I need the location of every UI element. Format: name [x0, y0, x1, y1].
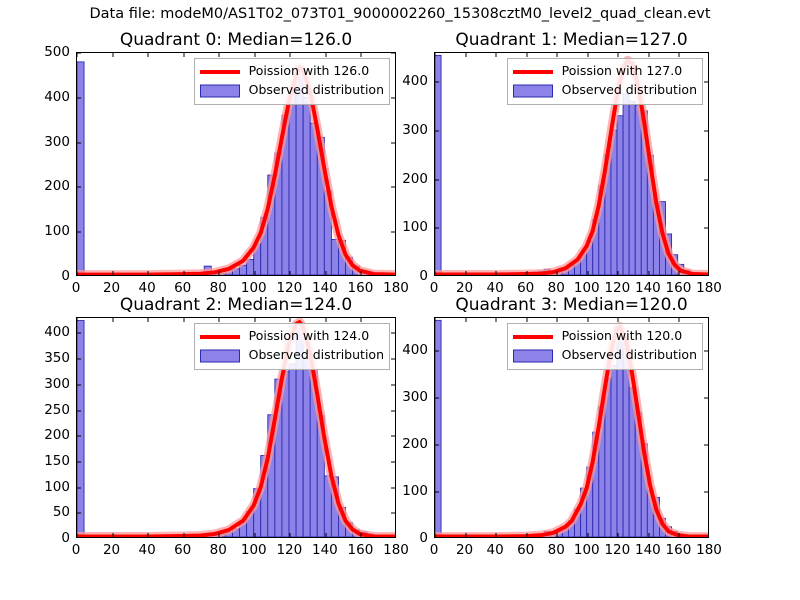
- subplot-quadrant-3: Quadrant 3: Median=120.00100200300400020…: [434, 317, 709, 538]
- histogram-bar: [77, 62, 84, 275]
- y-tick-mark: [77, 142, 81, 143]
- x-tick-label: 180: [696, 542, 722, 558]
- x-tick-mark: [679, 533, 680, 537]
- x-tick-mark: [361, 533, 362, 537]
- y-tick-mark: [77, 384, 81, 385]
- x-tick-label: 120: [276, 280, 302, 296]
- legend-label-poisson: Poission with 126.0: [249, 65, 370, 78]
- x-tick-label: 60: [517, 542, 534, 558]
- x-tick-mark: [290, 318, 291, 322]
- x-tick-mark: [435, 533, 436, 537]
- patch-swatch-icon: [513, 349, 553, 362]
- x-tick-mark: [219, 53, 220, 57]
- y-tick-label: 200: [44, 427, 70, 443]
- x-tick-mark: [254, 533, 255, 537]
- x-tick-mark: [465, 271, 466, 275]
- y-tick-mark: [435, 82, 439, 83]
- x-tick-mark: [435, 271, 436, 275]
- x-tick-mark: [148, 533, 149, 537]
- subplot-quadrant-1: Quadrant 1: Median=127.00100200300400020…: [434, 52, 709, 276]
- histogram-bar: [435, 320, 441, 537]
- y-tick-mark: [704, 130, 708, 131]
- x-tick-label: 0: [72, 542, 81, 558]
- y-tick-mark: [391, 384, 395, 385]
- y-tick-mark: [435, 350, 439, 351]
- x-tick-mark: [618, 533, 619, 537]
- x-tick-mark: [361, 271, 362, 275]
- x-tick-mark: [679, 271, 680, 275]
- y-tick-label: 50: [53, 504, 70, 520]
- legend-entry: Observed distribution: [513, 81, 697, 100]
- y-tick-label: 400: [44, 89, 70, 105]
- line-swatch-icon: [200, 335, 240, 339]
- x-tick-label: 160: [348, 280, 374, 296]
- y-tick-mark: [77, 410, 81, 411]
- y-tick-mark: [704, 228, 708, 229]
- x-tick-mark: [648, 318, 649, 322]
- y-tick-mark: [77, 97, 81, 98]
- y-tick-mark: [77, 232, 81, 233]
- x-tick-label: 80: [548, 542, 565, 558]
- x-tick-mark: [219, 271, 220, 275]
- y-tick-mark: [704, 350, 708, 351]
- x-tick-label: 100: [241, 280, 267, 296]
- y-tick-label: 200: [402, 171, 428, 187]
- x-tick-mark: [465, 533, 466, 537]
- x-tick-label: 120: [604, 280, 630, 296]
- x-tick-mark: [496, 318, 497, 322]
- y-tick-mark: [435, 179, 439, 180]
- x-tick-label: 100: [574, 280, 600, 296]
- x-tick-mark: [254, 53, 255, 57]
- x-tick-mark: [435, 53, 436, 57]
- x-tick-mark: [648, 53, 649, 57]
- histogram-bar: [303, 358, 310, 537]
- x-tick-mark: [618, 271, 619, 275]
- y-tick-label: 500: [44, 44, 70, 60]
- y-tick-mark: [435, 228, 439, 229]
- x-tick-label: 100: [574, 542, 600, 558]
- y-tick-label: 0: [419, 530, 428, 546]
- histogram-bar: [77, 321, 84, 537]
- line-swatch-icon: [513, 335, 553, 339]
- x-tick-label: 0: [430, 280, 439, 296]
- x-tick-mark: [183, 533, 184, 537]
- patch-swatch-icon: [200, 84, 240, 97]
- histogram-bar: [289, 364, 296, 537]
- x-tick-mark: [618, 53, 619, 57]
- y-tick-label: 0: [61, 530, 70, 546]
- legend-label-observed: Observed distribution: [249, 84, 384, 97]
- x-tick-mark: [254, 318, 255, 322]
- legend[interactable]: Poission with 127.0Observed distribution: [507, 58, 703, 105]
- legend-key-observed-patch: [513, 349, 553, 363]
- legend-label-observed: Observed distribution: [249, 349, 384, 362]
- legend-entry: Observed distribution: [200, 81, 384, 100]
- x-tick-label: 0: [72, 280, 81, 296]
- x-tick-mark: [112, 318, 113, 322]
- x-tick-mark: [290, 53, 291, 57]
- x-tick-mark: [77, 318, 78, 322]
- x-tick-label: 60: [517, 280, 534, 296]
- x-tick-label: 80: [210, 542, 227, 558]
- y-tick-mark: [77, 487, 81, 488]
- x-tick-mark: [112, 271, 113, 275]
- x-tick-label: 20: [456, 542, 473, 558]
- legend-entry: Poission with 120.0: [513, 327, 697, 346]
- x-tick-mark: [557, 53, 558, 57]
- x-tick-label: 140: [312, 280, 338, 296]
- y-tick-mark: [77, 513, 81, 514]
- x-tick-label: 20: [103, 542, 120, 558]
- y-tick-label: 0: [61, 268, 70, 284]
- y-tick-mark: [704, 82, 708, 83]
- x-tick-mark: [77, 533, 78, 537]
- y-tick-label: 100: [44, 223, 70, 239]
- x-tick-mark: [219, 318, 220, 322]
- x-tick-label: 180: [383, 542, 409, 558]
- x-tick-mark: [465, 318, 466, 322]
- x-tick-mark: [648, 271, 649, 275]
- x-tick-label: 40: [487, 280, 504, 296]
- y-tick-label: 300: [402, 122, 428, 138]
- x-tick-mark: [526, 53, 527, 57]
- histogram-bar: [629, 101, 635, 275]
- y-tick-label: 200: [44, 178, 70, 194]
- y-tick-mark: [435, 444, 439, 445]
- y-tick-label: 300: [402, 389, 428, 405]
- subplot-quadrant-0: Quadrant 0: Median=126.00100200300400500…: [76, 52, 396, 276]
- x-tick-mark: [325, 533, 326, 537]
- legend[interactable]: Poission with 120.0Observed distribution: [507, 323, 703, 370]
- x-tick-mark: [325, 318, 326, 322]
- x-tick-mark: [496, 533, 497, 537]
- x-tick-label: 180: [383, 280, 409, 296]
- histogram-bar: [635, 105, 641, 275]
- subplot-title: Quadrant 3: Median=120.0: [434, 295, 709, 315]
- x-tick-mark: [557, 533, 558, 537]
- histogram-bar: [303, 97, 310, 275]
- y-tick-mark: [391, 187, 395, 188]
- y-tick-label: 250: [44, 402, 70, 418]
- x-tick-label: 20: [456, 280, 473, 296]
- y-tick-label: 400: [402, 342, 428, 358]
- histogram-bar: [611, 366, 617, 537]
- x-tick-mark: [183, 53, 184, 57]
- y-tick-mark: [77, 187, 81, 188]
- legend-label-observed: Observed distribution: [562, 349, 697, 362]
- x-tick-label: 40: [487, 542, 504, 558]
- legend-key-observed-patch: [200, 84, 240, 98]
- y-tick-label: 0: [419, 268, 428, 284]
- x-tick-mark: [496, 53, 497, 57]
- legend-key-observed-patch: [513, 84, 553, 98]
- x-tick-mark: [496, 271, 497, 275]
- x-tick-label: 40: [139, 542, 156, 558]
- y-tick-label: 400: [402, 73, 428, 89]
- line-swatch-icon: [200, 70, 240, 74]
- legend-key-poisson-line: [513, 65, 553, 79]
- x-tick-mark: [587, 533, 588, 537]
- x-tick-mark: [361, 318, 362, 322]
- y-tick-label: 350: [44, 350, 70, 366]
- subplot-title: Quadrant 0: Median=126.0: [76, 30, 396, 50]
- x-tick-label: 160: [666, 542, 692, 558]
- y-tick-mark: [391, 436, 395, 437]
- x-tick-mark: [587, 318, 588, 322]
- y-tick-mark: [435, 397, 439, 398]
- x-tick-mark: [290, 533, 291, 537]
- x-tick-mark: [183, 318, 184, 322]
- y-tick-mark: [435, 130, 439, 131]
- x-tick-mark: [290, 271, 291, 275]
- legend-key-poisson-line: [513, 330, 553, 344]
- y-tick-label: 300: [44, 376, 70, 392]
- figure-canvas: Data file: modeM0/AS1T02_073T01_90000022…: [0, 0, 800, 600]
- x-tick-label: 140: [635, 280, 661, 296]
- histogram-bar: [435, 55, 441, 275]
- legend-label-poisson: Poission with 124.0: [249, 330, 370, 343]
- histogram-bar: [623, 94, 629, 275]
- legend-entry: Poission with 127.0: [513, 62, 697, 81]
- x-tick-mark: [526, 533, 527, 537]
- x-tick-label: 140: [635, 542, 661, 558]
- x-tick-label: 160: [348, 542, 374, 558]
- x-tick-mark: [148, 318, 149, 322]
- legend-label-poisson: Poission with 127.0: [562, 65, 683, 78]
- x-tick-mark: [465, 53, 466, 57]
- y-tick-mark: [77, 461, 81, 462]
- y-tick-mark: [391, 333, 395, 334]
- y-tick-mark: [77, 436, 81, 437]
- y-tick-label: 100: [402, 219, 428, 235]
- y-tick-mark: [391, 97, 395, 98]
- legend-key-poisson-line: [200, 330, 240, 344]
- x-tick-mark: [557, 271, 558, 275]
- x-tick-mark: [679, 53, 680, 57]
- x-tick-mark: [183, 271, 184, 275]
- subplot-quadrant-2: Quadrant 2: Median=124.00501001502002503…: [76, 317, 396, 538]
- y-tick-mark: [704, 444, 708, 445]
- x-tick-label: 140: [312, 542, 338, 558]
- y-tick-mark: [77, 53, 81, 54]
- y-tick-mark: [391, 487, 395, 488]
- x-tick-mark: [325, 53, 326, 57]
- x-tick-label: 180: [696, 280, 722, 296]
- x-tick-label: 60: [174, 542, 191, 558]
- x-tick-mark: [587, 53, 588, 57]
- y-tick-label: 300: [44, 134, 70, 150]
- y-tick-label: 100: [402, 483, 428, 499]
- x-tick-mark: [77, 53, 78, 57]
- y-tick-label: 400: [44, 324, 70, 340]
- line-swatch-icon: [513, 70, 553, 74]
- legend-label-observed: Observed distribution: [562, 84, 697, 97]
- x-tick-label: 60: [174, 280, 191, 296]
- x-tick-label: 100: [241, 542, 267, 558]
- x-tick-label: 120: [604, 542, 630, 558]
- legend-entry: Observed distribution: [513, 346, 697, 365]
- x-tick-label: 160: [666, 280, 692, 296]
- x-tick-label: 40: [139, 280, 156, 296]
- x-tick-mark: [361, 53, 362, 57]
- x-tick-mark: [526, 318, 527, 322]
- patch-swatch-icon: [200, 349, 240, 362]
- y-tick-mark: [391, 513, 395, 514]
- y-tick-mark: [704, 179, 708, 180]
- legend-label-poisson: Poission with 120.0: [562, 330, 683, 343]
- x-tick-label: 120: [276, 542, 302, 558]
- y-tick-mark: [391, 359, 395, 360]
- x-tick-mark: [435, 318, 436, 322]
- legend-key-poisson-line: [200, 65, 240, 79]
- legend-key-observed-patch: [200, 349, 240, 363]
- x-tick-mark: [618, 318, 619, 322]
- x-tick-label: 80: [210, 280, 227, 296]
- patch-swatch-icon: [513, 84, 553, 97]
- x-tick-mark: [587, 271, 588, 275]
- x-tick-mark: [557, 318, 558, 322]
- histogram-bar: [289, 92, 296, 275]
- x-tick-label: 80: [548, 280, 565, 296]
- y-tick-mark: [77, 333, 81, 334]
- y-tick-label: 150: [44, 453, 70, 469]
- y-tick-mark: [435, 491, 439, 492]
- x-tick-mark: [148, 271, 149, 275]
- y-tick-mark: [391, 53, 395, 54]
- y-tick-mark: [391, 461, 395, 462]
- y-tick-mark: [391, 232, 395, 233]
- x-tick-mark: [112, 533, 113, 537]
- legend-entry: Poission with 126.0: [200, 62, 384, 81]
- y-tick-mark: [704, 397, 708, 398]
- legend[interactable]: Poission with 126.0Observed distribution: [194, 58, 390, 105]
- y-tick-mark: [391, 410, 395, 411]
- x-tick-mark: [77, 271, 78, 275]
- x-tick-mark: [526, 271, 527, 275]
- x-tick-mark: [325, 271, 326, 275]
- figure-suptitle: Data file: modeM0/AS1T02_073T01_90000022…: [0, 6, 800, 22]
- legend-entry: Observed distribution: [200, 346, 384, 365]
- x-tick-mark: [219, 533, 220, 537]
- x-tick-mark: [254, 271, 255, 275]
- x-tick-label: 20: [103, 280, 120, 296]
- subplot-title: Quadrant 2: Median=124.0: [76, 295, 396, 315]
- y-tick-mark: [704, 491, 708, 492]
- x-tick-mark: [148, 53, 149, 57]
- x-tick-mark: [648, 533, 649, 537]
- y-tick-label: 100: [44, 479, 70, 495]
- legend[interactable]: Poission with 124.0Observed distribution: [194, 323, 390, 370]
- histogram-bar: [617, 116, 623, 275]
- y-tick-mark: [77, 359, 81, 360]
- x-tick-label: 0: [430, 542, 439, 558]
- y-tick-label: 200: [402, 436, 428, 452]
- subplot-title: Quadrant 1: Median=127.0: [434, 30, 709, 50]
- x-tick-mark: [679, 318, 680, 322]
- legend-entry: Poission with 124.0: [200, 327, 384, 346]
- x-tick-mark: [112, 53, 113, 57]
- y-tick-mark: [391, 142, 395, 143]
